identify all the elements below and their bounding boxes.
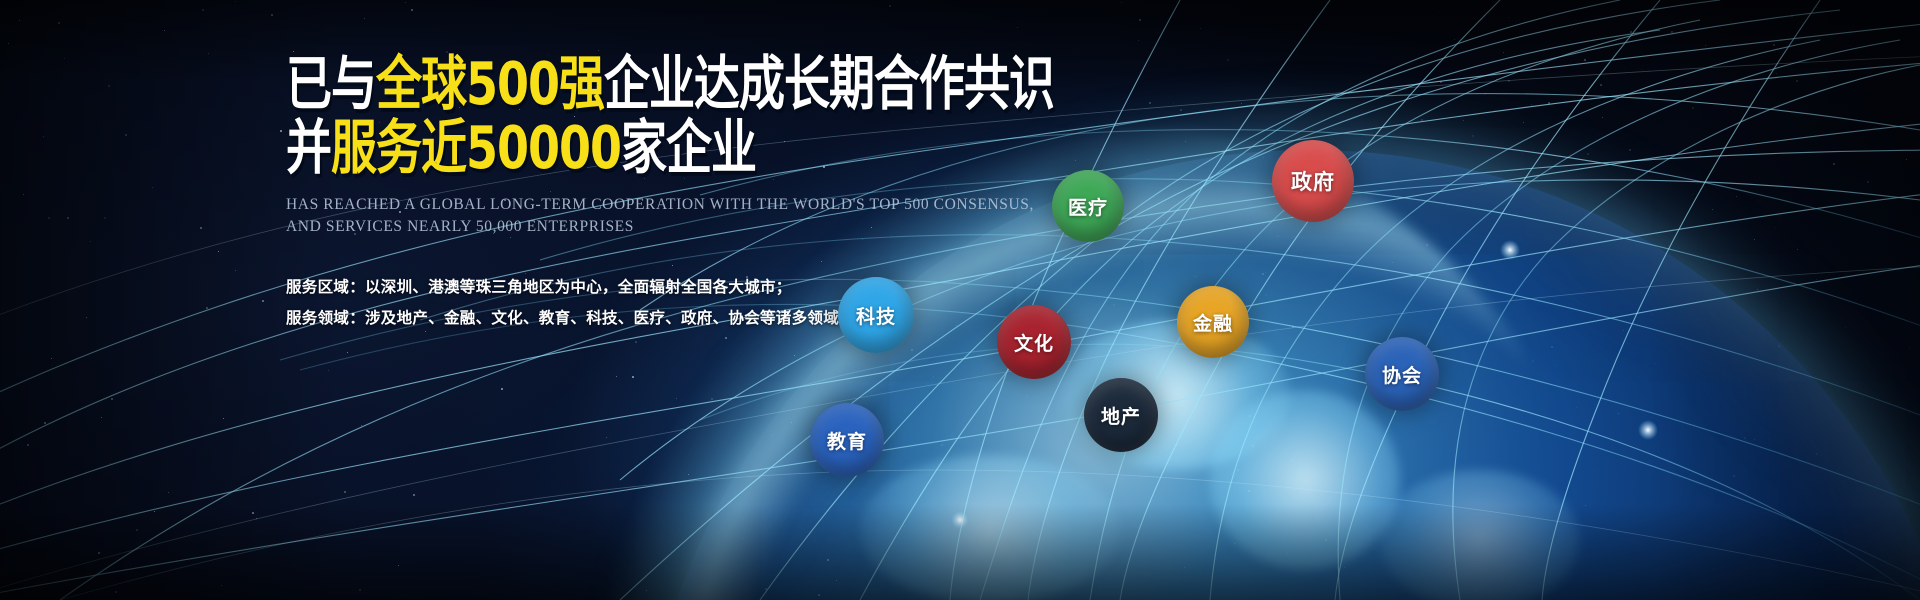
star <box>1555 365 1556 366</box>
star <box>711 398 713 400</box>
star <box>1074 353 1075 354</box>
star <box>1746 337 1747 338</box>
star <box>1523 122 1524 123</box>
star <box>818 594 820 596</box>
star <box>632 376 634 378</box>
star <box>1263 157 1264 158</box>
star <box>1237 469 1239 471</box>
star <box>794 355 795 356</box>
star <box>995 453 996 454</box>
star <box>115 591 117 593</box>
star <box>405 2 406 3</box>
star <box>1584 59 1586 61</box>
star <box>1227 59 1229 61</box>
landmass-far-east <box>1380 470 1580 600</box>
star <box>1618 413 1619 414</box>
star <box>1374 548 1375 549</box>
star <box>1252 445 1254 447</box>
star <box>772 435 773 436</box>
star <box>1773 44 1775 46</box>
star <box>1700 155 1701 156</box>
star <box>413 494 415 496</box>
star <box>164 30 165 31</box>
star <box>1898 544 1899 545</box>
bubble-label: 科技 <box>856 302 896 329</box>
star <box>1883 364 1884 365</box>
star <box>1450 384 1452 386</box>
star <box>262 300 264 302</box>
bubble-3[interactable]: 文化 <box>997 305 1071 379</box>
star <box>104 217 106 219</box>
star <box>1508 80 1510 82</box>
star <box>1587 153 1589 155</box>
star <box>1754 239 1755 240</box>
star <box>1305 258 1306 259</box>
star <box>1485 184 1487 186</box>
star <box>223 418 224 419</box>
star <box>1791 15 1793 17</box>
star <box>1600 84 1602 86</box>
star <box>803 462 804 463</box>
star <box>1292 326 1294 328</box>
star <box>43 136 44 137</box>
star <box>1121 2 1122 3</box>
star <box>1185 141 1186 142</box>
star <box>1602 117 1603 118</box>
star <box>1508 17 1509 18</box>
star <box>271 14 273 16</box>
star <box>982 434 984 436</box>
star <box>1148 159 1149 160</box>
star <box>1671 31 1673 33</box>
star <box>51 358 52 359</box>
star <box>347 352 348 353</box>
star <box>1640 50 1641 51</box>
star <box>969 562 970 563</box>
star <box>1692 107 1694 109</box>
bubble-5[interactable]: 协会 <box>1365 337 1439 411</box>
star <box>1077 422 1078 423</box>
star <box>1270 423 1271 424</box>
star <box>1796 80 1798 82</box>
star <box>8 43 9 44</box>
star <box>1776 73 1777 74</box>
star <box>1426 244 1428 246</box>
headline-seg-1: 已与 <box>286 49 376 118</box>
star <box>1277 235 1279 237</box>
star <box>787 387 788 388</box>
headline-seg-4: 并 <box>286 113 331 182</box>
star <box>1642 69 1643 70</box>
subtitle-line-1: HAS REACHED A GLOBAL LONG-TERM COOPERATI… <box>286 194 1006 216</box>
star <box>1184 567 1185 568</box>
star <box>635 341 637 343</box>
star <box>1757 289 1758 290</box>
headline-seg-5: 服务近50000 <box>331 113 621 182</box>
star <box>111 398 113 400</box>
star <box>1200 28 1201 29</box>
star <box>1531 104 1532 105</box>
star <box>235 1 236 2</box>
star <box>765 588 767 590</box>
star <box>1494 110 1495 111</box>
subtitle-english: HAS REACHED A GLOBAL LONG-TERM COOPERATI… <box>286 194 1006 238</box>
star <box>1816 453 1818 455</box>
star <box>1180 109 1182 111</box>
star <box>1463 120 1464 121</box>
bubble-7[interactable]: 教育 <box>810 403 884 477</box>
star <box>1548 102 1550 104</box>
star <box>1754 439 1755 440</box>
star <box>1447 204 1449 206</box>
star <box>67 217 69 219</box>
bubble-6[interactable]: 地产 <box>1084 378 1158 452</box>
star <box>1651 314 1652 315</box>
star <box>1733 475 1735 477</box>
star <box>1262 273 1264 275</box>
star <box>1074 347 1076 349</box>
star <box>252 512 254 514</box>
star <box>1833 163 1835 165</box>
star <box>1551 346 1553 348</box>
bubble-label: 金融 <box>1193 309 1233 336</box>
star <box>1909 348 1910 349</box>
star <box>256 518 257 519</box>
star <box>280 130 282 132</box>
star <box>90 241 91 242</box>
star <box>1392 262 1393 263</box>
bubble-label: 文化 <box>1014 329 1054 356</box>
headline-seg-6: 家企业 <box>621 113 756 182</box>
star <box>1320 508 1322 510</box>
star <box>606 437 607 438</box>
star <box>1503 52 1504 53</box>
star <box>1061 314 1062 315</box>
star <box>1173 207 1174 208</box>
star <box>725 337 727 339</box>
star <box>1576 407 1577 408</box>
star <box>717 532 718 533</box>
landmass-east <box>1210 390 1400 570</box>
star <box>1472 135 1474 137</box>
star <box>44 422 46 424</box>
star <box>1918 544 1919 545</box>
star <box>1248 490 1250 492</box>
star <box>58 22 60 24</box>
star <box>1017 27 1018 28</box>
star <box>1316 473 1317 474</box>
star <box>27 444 29 446</box>
star <box>889 5 891 7</box>
landmass-south <box>860 455 1120 600</box>
star <box>364 18 365 19</box>
star <box>1454 39 1455 40</box>
star <box>359 589 361 591</box>
star <box>208 53 209 54</box>
bubble-label: 教育 <box>827 427 867 454</box>
star <box>136 529 138 531</box>
star <box>978 550 979 551</box>
star <box>328 370 329 371</box>
star <box>1778 345 1780 347</box>
bubble-label: 协会 <box>1382 361 1422 388</box>
star <box>1744 437 1746 439</box>
star <box>344 491 346 493</box>
star <box>1475 590 1477 592</box>
star <box>1344 567 1345 568</box>
star <box>154 511 155 512</box>
star <box>1509 211 1510 212</box>
star <box>1176 444 1178 446</box>
star <box>202 9 204 11</box>
star <box>1149 102 1151 104</box>
star <box>64 58 65 59</box>
star <box>1421 119 1423 121</box>
star <box>1234 543 1235 544</box>
star <box>1574 298 1575 299</box>
star <box>1629 149 1631 151</box>
star <box>1867 181 1869 183</box>
star <box>1692 194 1693 195</box>
bubble-4[interactable]: 金融 <box>1177 286 1249 358</box>
star <box>1623 330 1624 331</box>
star <box>933 376 934 377</box>
star <box>1645 255 1646 256</box>
star <box>688 474 689 475</box>
star <box>98 552 100 554</box>
headline-seg-3: 企业达成长期合作共识 <box>604 49 1054 118</box>
bubble-0[interactable]: 政府 <box>1272 140 1354 222</box>
bubble-label: 地产 <box>1101 402 1141 429</box>
star <box>1181 186 1182 187</box>
star <box>1524 258 1525 259</box>
star <box>1453 562 1454 563</box>
headline: 已与全球500强企业达成长期合作共识 并服务近50000家企业 <box>286 54 1006 164</box>
star <box>1705 45 1706 46</box>
bubble-2[interactable]: 科技 <box>838 277 914 353</box>
star <box>221 585 222 586</box>
star <box>108 85 110 87</box>
star <box>125 134 127 136</box>
star <box>411 9 413 11</box>
star <box>1476 366 1477 367</box>
star <box>1004 498 1005 499</box>
headline-line-2: 并服务近50000家企业 <box>286 118 1006 177</box>
headline-line-1: 已与全球500强企业达成长期合作共识 <box>286 54 1006 113</box>
star <box>1075 160 1076 161</box>
headline-seg-2: 全球500强 <box>376 49 604 118</box>
bubble-1[interactable]: 医疗 <box>1052 170 1124 242</box>
star <box>1100 586 1101 587</box>
star <box>911 349 913 351</box>
star <box>1152 47 1153 48</box>
star <box>200 227 202 229</box>
star <box>676 398 677 399</box>
star <box>361 425 362 426</box>
star <box>827 559 829 561</box>
star <box>1286 553 1288 555</box>
star <box>1736 196 1737 197</box>
star <box>235 270 236 271</box>
star <box>616 376 617 377</box>
star <box>1516 213 1517 214</box>
star <box>1655 363 1656 364</box>
star <box>1630 31 1632 33</box>
star <box>1438 12 1439 13</box>
star <box>1195 276 1196 277</box>
star <box>1906 159 1907 160</box>
star <box>218 251 219 252</box>
star <box>1027 396 1028 397</box>
bubble-label: 医疗 <box>1068 193 1108 220</box>
star <box>23 194 24 195</box>
star <box>206 307 208 309</box>
star <box>110 463 111 464</box>
star <box>86 317 87 318</box>
star <box>1325 539 1327 541</box>
star <box>941 444 943 446</box>
star <box>1816 279 1817 280</box>
star <box>1241 103 1242 104</box>
star <box>1265 272 1266 273</box>
star <box>1113 304 1115 306</box>
star <box>1820 550 1821 551</box>
star <box>1139 19 1141 21</box>
star <box>1249 415 1251 417</box>
star <box>1775 227 1776 228</box>
star <box>1532 360 1534 362</box>
star <box>1173 103 1174 104</box>
star <box>1265 294 1267 296</box>
star <box>101 417 102 418</box>
star <box>152 187 153 188</box>
hero-banner: 已与全球500强企业达成长期合作共识 并服务近50000家企业 HAS REAC… <box>0 0 1920 600</box>
star <box>1292 459 1294 461</box>
bubble-label: 政府 <box>1291 166 1335 196</box>
star <box>501 388 503 390</box>
star <box>1496 79 1497 80</box>
star <box>1440 81 1442 83</box>
star <box>48 217 50 219</box>
star <box>1080 424 1082 426</box>
star <box>743 538 744 539</box>
star <box>1213 360 1214 361</box>
star <box>646 590 647 591</box>
subtitle-line-2: AND SERVICES NEARLY 50,000 ENTERPRISES <box>286 216 1006 238</box>
star <box>1138 40 1139 41</box>
